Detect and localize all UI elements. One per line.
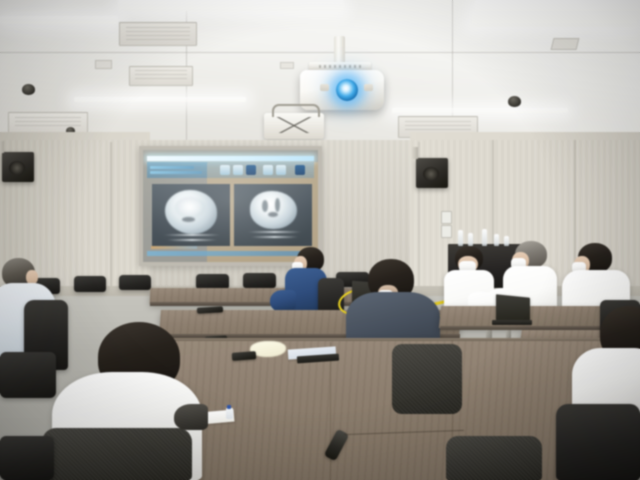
scan-arc [166,239,218,241]
scan-detail [174,197,206,219]
air-vent-lower-left [8,112,88,134]
air-vent-mid-left [129,66,193,86]
light-switch-plate-lower[interactable] [441,225,452,238]
wall-speaker-left [2,152,34,182]
smoke-detector-right [508,96,521,107]
bottle [458,230,463,246]
chair-back-row[interactable] [243,273,276,288]
bottle [504,236,509,246]
projector-vent [364,84,373,91]
wall-speaker-right [416,158,448,188]
projection-screen [143,150,318,262]
ceiling-fixture [280,62,294,69]
bottle [468,233,473,246]
ceiling-fixture [551,38,580,50]
scan-pane-right [234,184,312,246]
chair-back-row[interactable] [74,276,106,292]
conference-room-photo [0,0,640,480]
bottle [482,229,487,246]
chair-armrest[interactable] [174,404,208,430]
app-toolbar [147,162,314,178]
chair-front-right[interactable] [556,404,640,480]
app-footer-bar [147,251,314,256]
arm [270,290,296,312]
wall-panel-seam [110,142,112,292]
scan-detail [268,212,278,217]
app-titlebar [147,156,314,161]
app-status-strip [151,246,197,249]
fluorescent-panel-top-right [469,0,640,27]
smoke-detector-left [22,84,35,95]
chair-mid-right[interactable] [392,344,462,414]
chair-back-row[interactable] [119,275,151,290]
air-vent-upper-left [119,22,197,46]
smartphone[interactable] [232,351,256,361]
chair-front-left[interactable] [42,428,192,480]
projector-lens-icon [336,79,358,101]
toolbar-icon[interactable] [263,165,273,175]
toolbar-icon[interactable] [233,165,243,175]
scan-detail [262,200,268,212]
toolbar-icon[interactable] [246,165,256,175]
chair-foreground-mid[interactable] [446,436,542,480]
fluorescent-panel-mid-right [392,108,568,113]
table-edge [168,338,640,341]
toolbar-strip [150,166,194,169]
ceiling-fixture [95,60,112,69]
chair-back-row[interactable] [196,274,229,289]
scan-detail [275,198,280,212]
scan-arc [163,234,221,236]
fluorescent-panel-left [0,16,118,24]
light-switch-plate-upper[interactable] [441,211,452,224]
projector-mount-bracket [264,113,324,139]
ceiling-seam [0,52,640,53]
projector-vent [320,84,329,91]
scan-detail [182,217,195,222]
scan-pane-left [152,184,230,246]
laptop-base[interactable] [492,320,532,325]
bottle [494,234,499,246]
toolbar-strip [150,171,202,174]
scan-arc [247,231,302,233]
toolbar-icon[interactable] [220,165,230,175]
fluorescent-panel-top-center [118,0,344,11]
fluorescent-panel-mid [74,97,246,102]
chair-front-left-edge[interactable] [0,436,54,480]
chair-far-left-seat[interactable] [0,352,56,398]
scan-image [250,191,297,229]
toolbar-icon[interactable] [276,165,286,175]
scan-arc [250,236,299,238]
toolbar-icon[interactable] [295,165,305,175]
small-bottle[interactable] [226,408,233,419]
